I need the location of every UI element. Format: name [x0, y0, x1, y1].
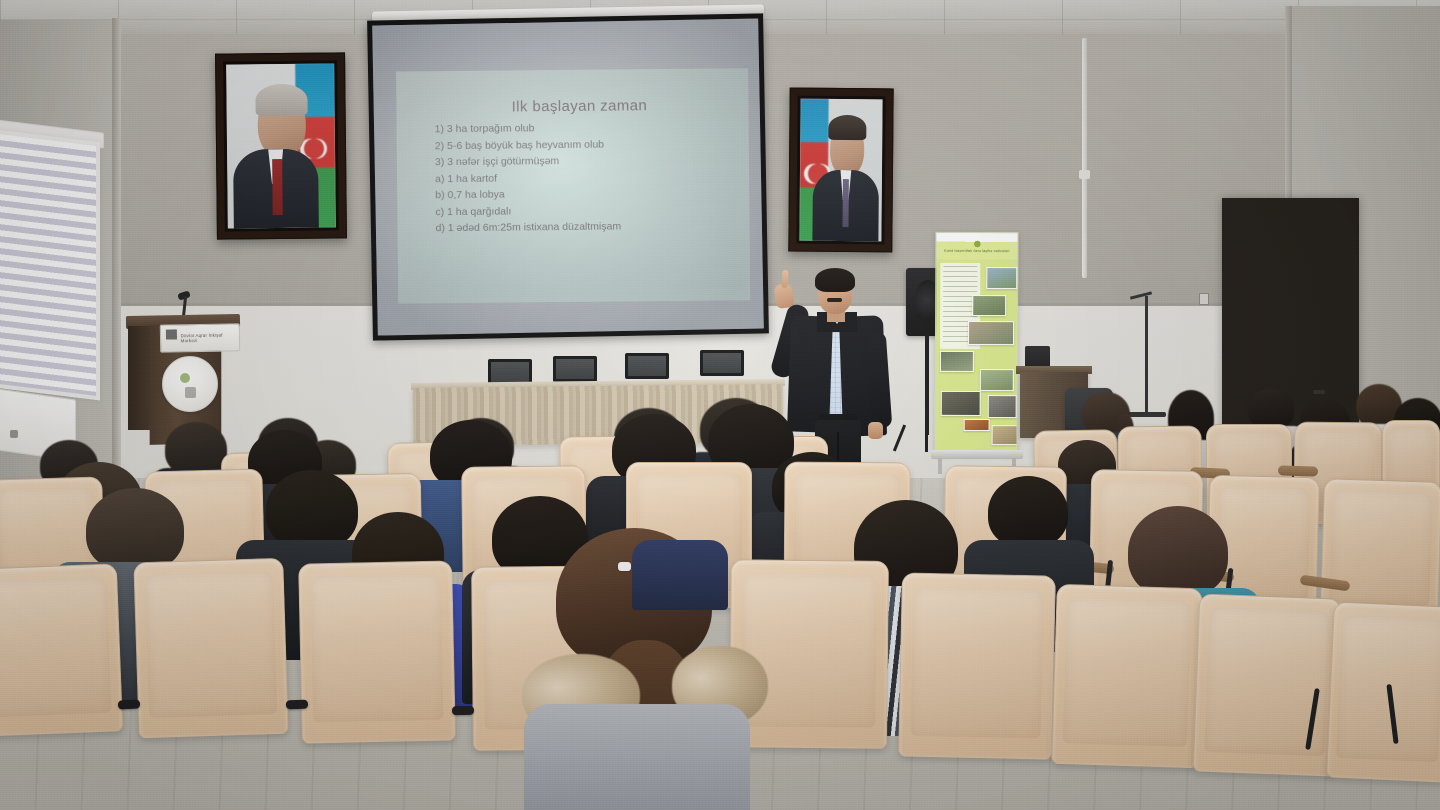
auditorium-seat[interactable]	[1051, 584, 1203, 768]
emblem-mark-1	[180, 373, 190, 383]
presenter-moustache	[827, 298, 842, 302]
banner-photo	[986, 267, 1017, 289]
portrait-hair	[828, 114, 866, 140]
banner-photo	[940, 351, 974, 372]
radiator-valve[interactable]	[10, 430, 18, 438]
auditorium-seat[interactable]	[0, 563, 123, 736]
portrait-image	[799, 99, 882, 242]
auditorium-seat[interactable]	[729, 559, 889, 749]
banner-photo	[941, 391, 981, 416]
auditorium-seat[interactable]	[1326, 601, 1440, 782]
person-head	[1128, 506, 1228, 598]
speaker-stand-pole	[925, 335, 929, 435]
light-switch[interactable]	[1199, 293, 1209, 305]
banner-photo	[988, 395, 1017, 418]
auditorium-seat[interactable]	[1320, 478, 1440, 622]
banner-header: Kənd təsərrüfatı üzrə layihə nəticələri	[936, 237, 1017, 261]
lectern-logo-icon	[166, 329, 177, 347]
person-head	[86, 488, 184, 572]
microphone-stand	[1145, 296, 1148, 416]
door-handle[interactable]	[1313, 390, 1325, 394]
lectern-nameplate: Dövlət Aqrar İnkişaf Mərkəzi	[160, 323, 240, 352]
banner-title: Kənd təsərrüfatı üzrə layihə nəticələri	[936, 249, 1017, 253]
hair-tie	[618, 562, 631, 571]
banner-photo	[980, 369, 1014, 391]
person-body	[524, 704, 750, 810]
wall-conduit	[1082, 38, 1087, 278]
seat-hinge	[118, 699, 140, 709]
slide-title: Ilk başlayan zaman	[406, 96, 738, 116]
projected-slide: Ilk başlayan zaman 1) 3 ha torpağım olub…	[396, 68, 750, 303]
banner-photo	[968, 321, 1014, 345]
banner-photo	[992, 425, 1018, 445]
portrait-image	[226, 63, 336, 228]
banner-photo	[964, 419, 990, 431]
heydar-aliyev-portrait	[215, 52, 347, 239]
banner-logo-icon	[970, 238, 984, 248]
stage-chair[interactable]	[700, 350, 744, 376]
portrait-tie	[272, 159, 282, 215]
slide-line: d) 1 ədəd 6m:25m istixana düzaltmişam	[435, 218, 739, 237]
banner-foot	[938, 458, 942, 474]
seat-hinge	[452, 706, 474, 715]
person-head	[988, 476, 1068, 548]
stage-chair[interactable]	[625, 353, 669, 379]
portrait-mat	[223, 60, 339, 231]
portrait-tie	[842, 179, 849, 227]
seat-armrest	[1278, 465, 1318, 476]
banner-photo	[972, 295, 1006, 316]
auditorium-seat[interactable]	[1193, 593, 1342, 776]
left-corner	[112, 18, 121, 488]
projection-screen: Ilk başlayan zaman 1) 3 ha torpağım olub…	[367, 13, 769, 340]
lecture-hall-photo: Ilk başlayan zaman 1) 3 ha torpağım olub…	[0, 0, 1440, 810]
slide-bullet-list: 1) 3 ha torpağım olub 2) 5-6 baş böyük b…	[407, 118, 740, 237]
auditorium-seat[interactable]	[133, 558, 288, 739]
conduit-clip	[1079, 170, 1090, 179]
presenter-index-finger	[781, 270, 788, 288]
seat-hinge	[286, 700, 308, 710]
screen-surface: Ilk başlayan zaman 1) 3 ha torpağım olub…	[372, 18, 764, 335]
lectern-side-panel	[128, 326, 152, 430]
portrait-mat	[796, 96, 885, 245]
presenter-hair	[815, 268, 855, 292]
auditorium-seat[interactable]	[898, 572, 1056, 759]
window	[0, 130, 100, 401]
mic-stand-base	[1128, 412, 1166, 417]
window-blinds[interactable]	[0, 134, 96, 396]
presenter-lowered-hand	[868, 422, 883, 439]
lectern-emblem	[162, 356, 218, 412]
stage-chair[interactable]	[553, 356, 597, 382]
ilham-aliyev-portrait	[788, 88, 893, 253]
lectern-plate-text: Dövlət Aqrar İnkişaf Mərkəzi	[181, 332, 235, 344]
portrait-hair	[256, 83, 308, 116]
person-head	[266, 470, 358, 550]
auditorium-seat[interactable]	[298, 560, 456, 743]
person-body	[632, 540, 728, 610]
emblem-mark-2	[185, 387, 196, 398]
banner-base	[931, 450, 1023, 459]
roll-up-banner: Kənd təsərrüfatı üzrə layihə nəticələri	[935, 232, 1019, 454]
